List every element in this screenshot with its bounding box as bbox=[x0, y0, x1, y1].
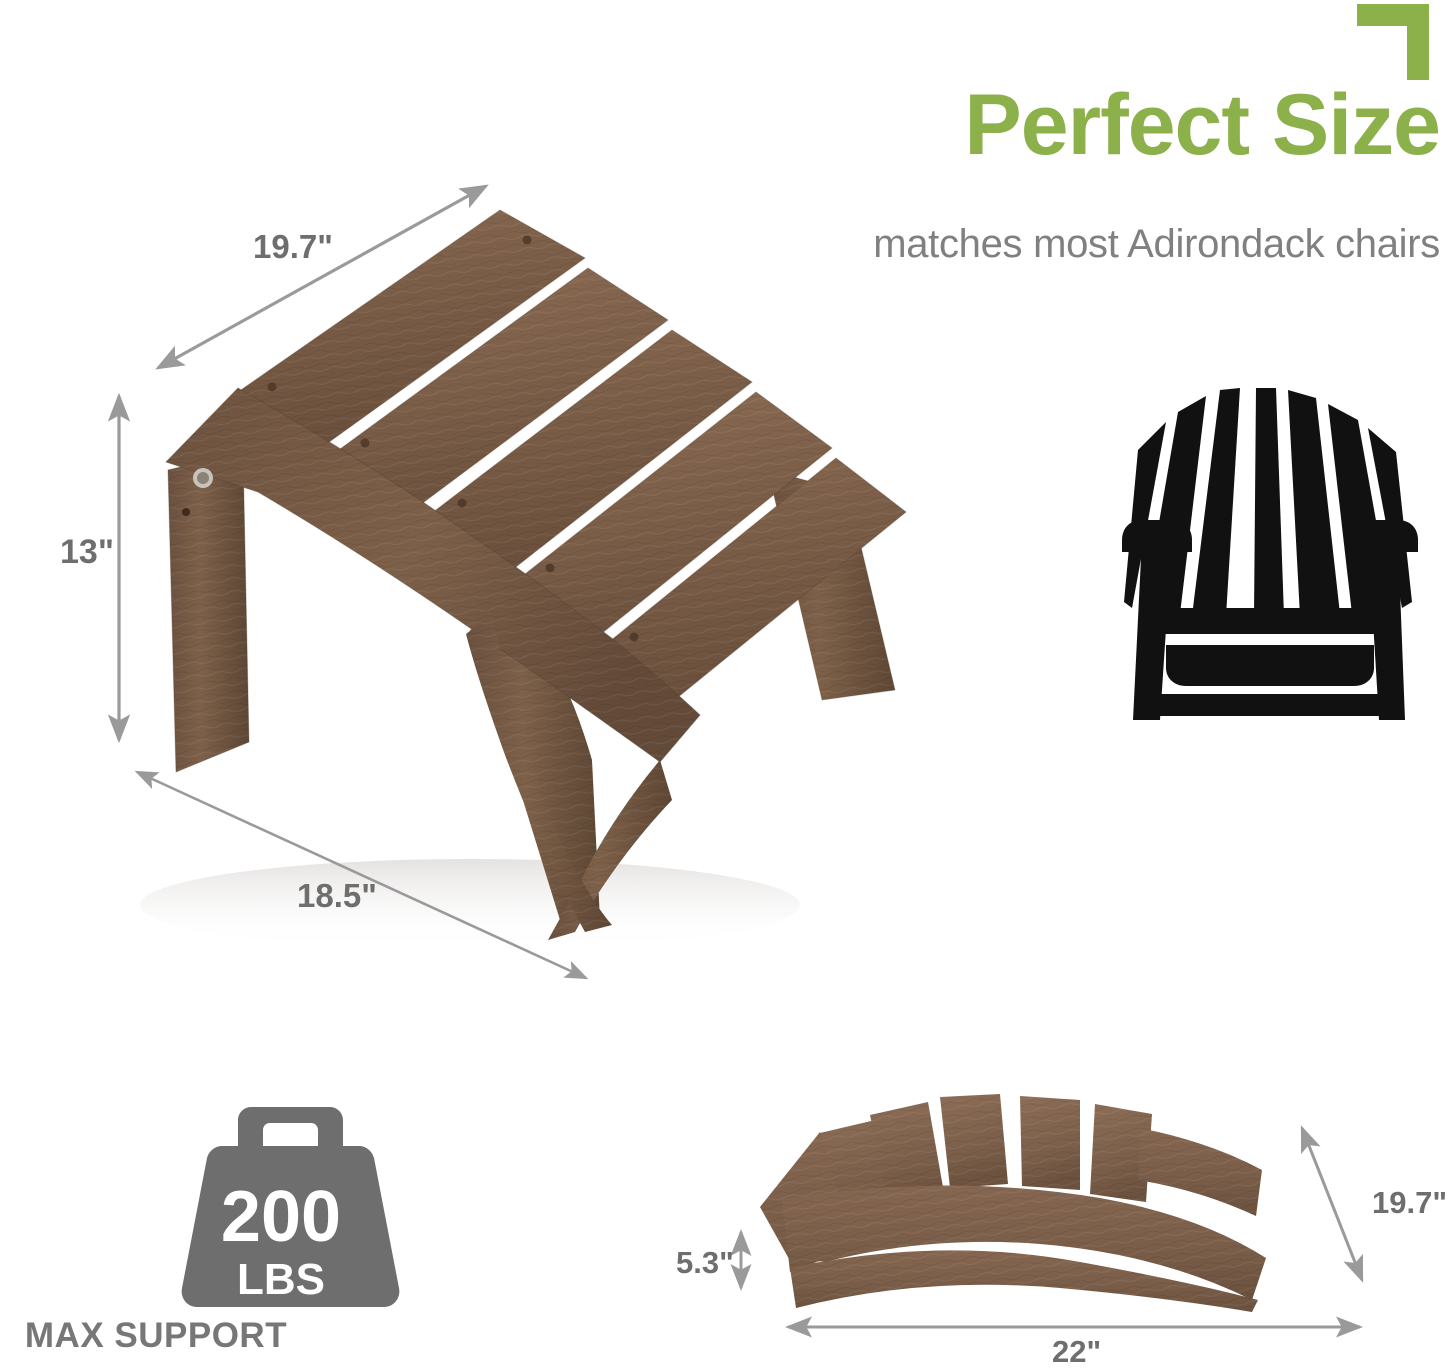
ottoman-slat-2 bbox=[336, 268, 668, 505]
infographic-page: Perfect Size matches most Adirondack cha… bbox=[0, 0, 1451, 1369]
ottoman-leg-front-right bbox=[470, 612, 600, 920]
corner-bracket-vertical-bar bbox=[1407, 4, 1429, 80]
adirondack-chair-silhouette bbox=[1122, 386, 1418, 720]
dimension-arrow-folded-depth bbox=[1302, 1128, 1362, 1280]
page-subtitle: matches most Adirondack chairs bbox=[600, 222, 1440, 267]
ottoman-front-runner bbox=[548, 760, 672, 940]
folded-runner bbox=[790, 1250, 1258, 1312]
folded-slat-4 bbox=[1020, 1096, 1080, 1190]
folded-slat-1 bbox=[820, 1117, 906, 1226]
ottoman-slat-4 bbox=[520, 392, 832, 638]
folded-slat-5 bbox=[1090, 1104, 1152, 1202]
corner-bracket-icon bbox=[1357, 4, 1429, 80]
main-dimension-arrows bbox=[119, 186, 586, 978]
ottoman-leg-rear-left bbox=[168, 452, 249, 772]
weight-value: 200 bbox=[148, 1181, 414, 1253]
folded-end-cap bbox=[760, 1132, 848, 1300]
folded-seat-body bbox=[782, 1185, 1266, 1300]
folded-dimension-arrows bbox=[741, 1128, 1362, 1327]
ottoman-side-frame-left bbox=[166, 388, 700, 762]
dimension-label-folded-width: 22" bbox=[1052, 1334, 1101, 1369]
ottoman-slat-3 bbox=[432, 330, 752, 570]
folded-ottoman-illustration bbox=[760, 1094, 1266, 1312]
ottoman-leg-front-sweep bbox=[466, 614, 612, 932]
ottoman-slat-5 bbox=[604, 458, 906, 702]
page-title: Perfect Size bbox=[760, 80, 1440, 170]
dimension-label-width: 19.7" bbox=[253, 228, 333, 266]
dimension-label-height: 13" bbox=[60, 533, 114, 572]
folded-tail-upper bbox=[1138, 1128, 1262, 1216]
ottoman-leg-rear-right bbox=[768, 470, 895, 700]
dimension-arrow-depth bbox=[137, 772, 586, 978]
weight-unit: LBS bbox=[148, 1258, 414, 1302]
dimension-label-folded-depth: 19.7" bbox=[1372, 1185, 1447, 1221]
weight-caption: MAX SUPPORT bbox=[0, 1316, 316, 1356]
dimension-label-depth: 18.5" bbox=[297, 877, 377, 915]
folded-slat-3 bbox=[940, 1094, 1008, 1188]
dimension-arrow-width bbox=[158, 186, 486, 368]
ottoman-body bbox=[166, 210, 906, 940]
dimension-label-folded-thickness: 5.3" bbox=[676, 1245, 734, 1281]
folded-slat-2 bbox=[870, 1102, 944, 1206]
